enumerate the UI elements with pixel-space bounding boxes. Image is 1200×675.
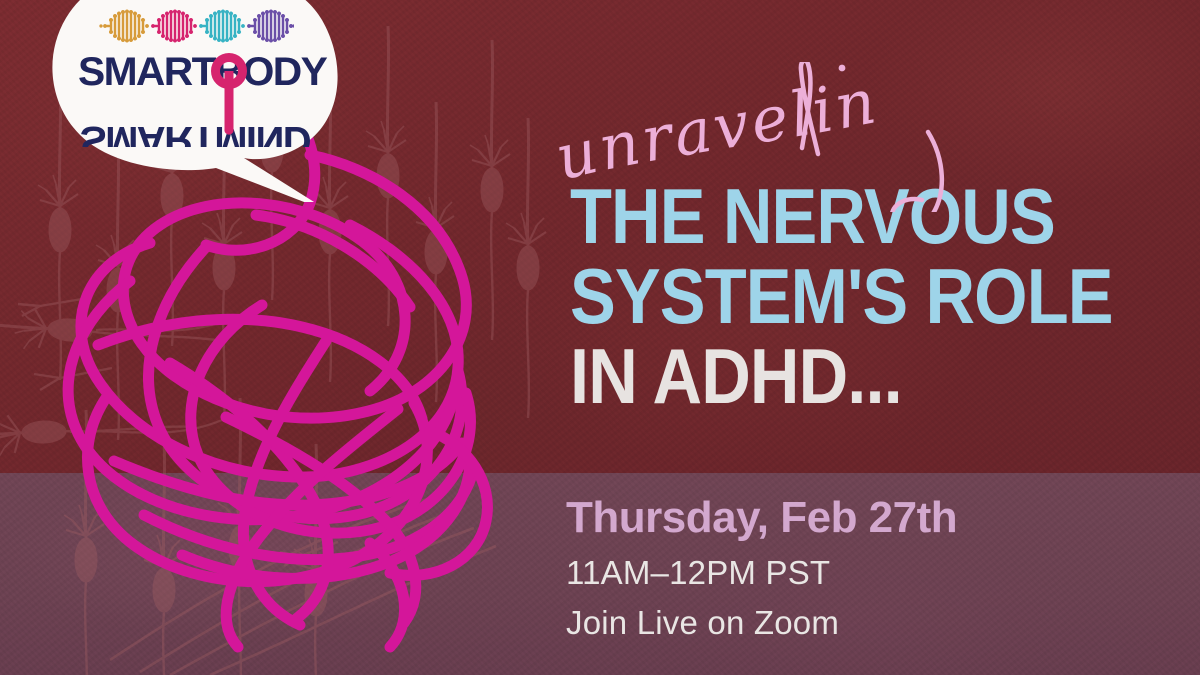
event-date: Thursday, Feb 27th (566, 494, 1186, 542)
webinar-promo-poster: SMARTBODY SMARTMIND unraveli (0, 0, 1200, 675)
headline-line-2: SYSTEM'S ROLE (570, 260, 1113, 333)
event-platform: Join Live on Zoom (566, 604, 1186, 642)
script-word-unraveling: unraveling (556, 62, 986, 212)
script-word-text: unraveling (556, 62, 884, 194)
schedule-block: Thursday, Feb 27th 11AM–12PM PST Join Li… (566, 494, 1186, 642)
headline-line-3: IN ADHD... (570, 340, 902, 413)
logo-speech-bubble (30, 0, 350, 202)
event-time: 11AM–12PM PST (566, 554, 1186, 592)
script-dot-icon (839, 65, 846, 72)
